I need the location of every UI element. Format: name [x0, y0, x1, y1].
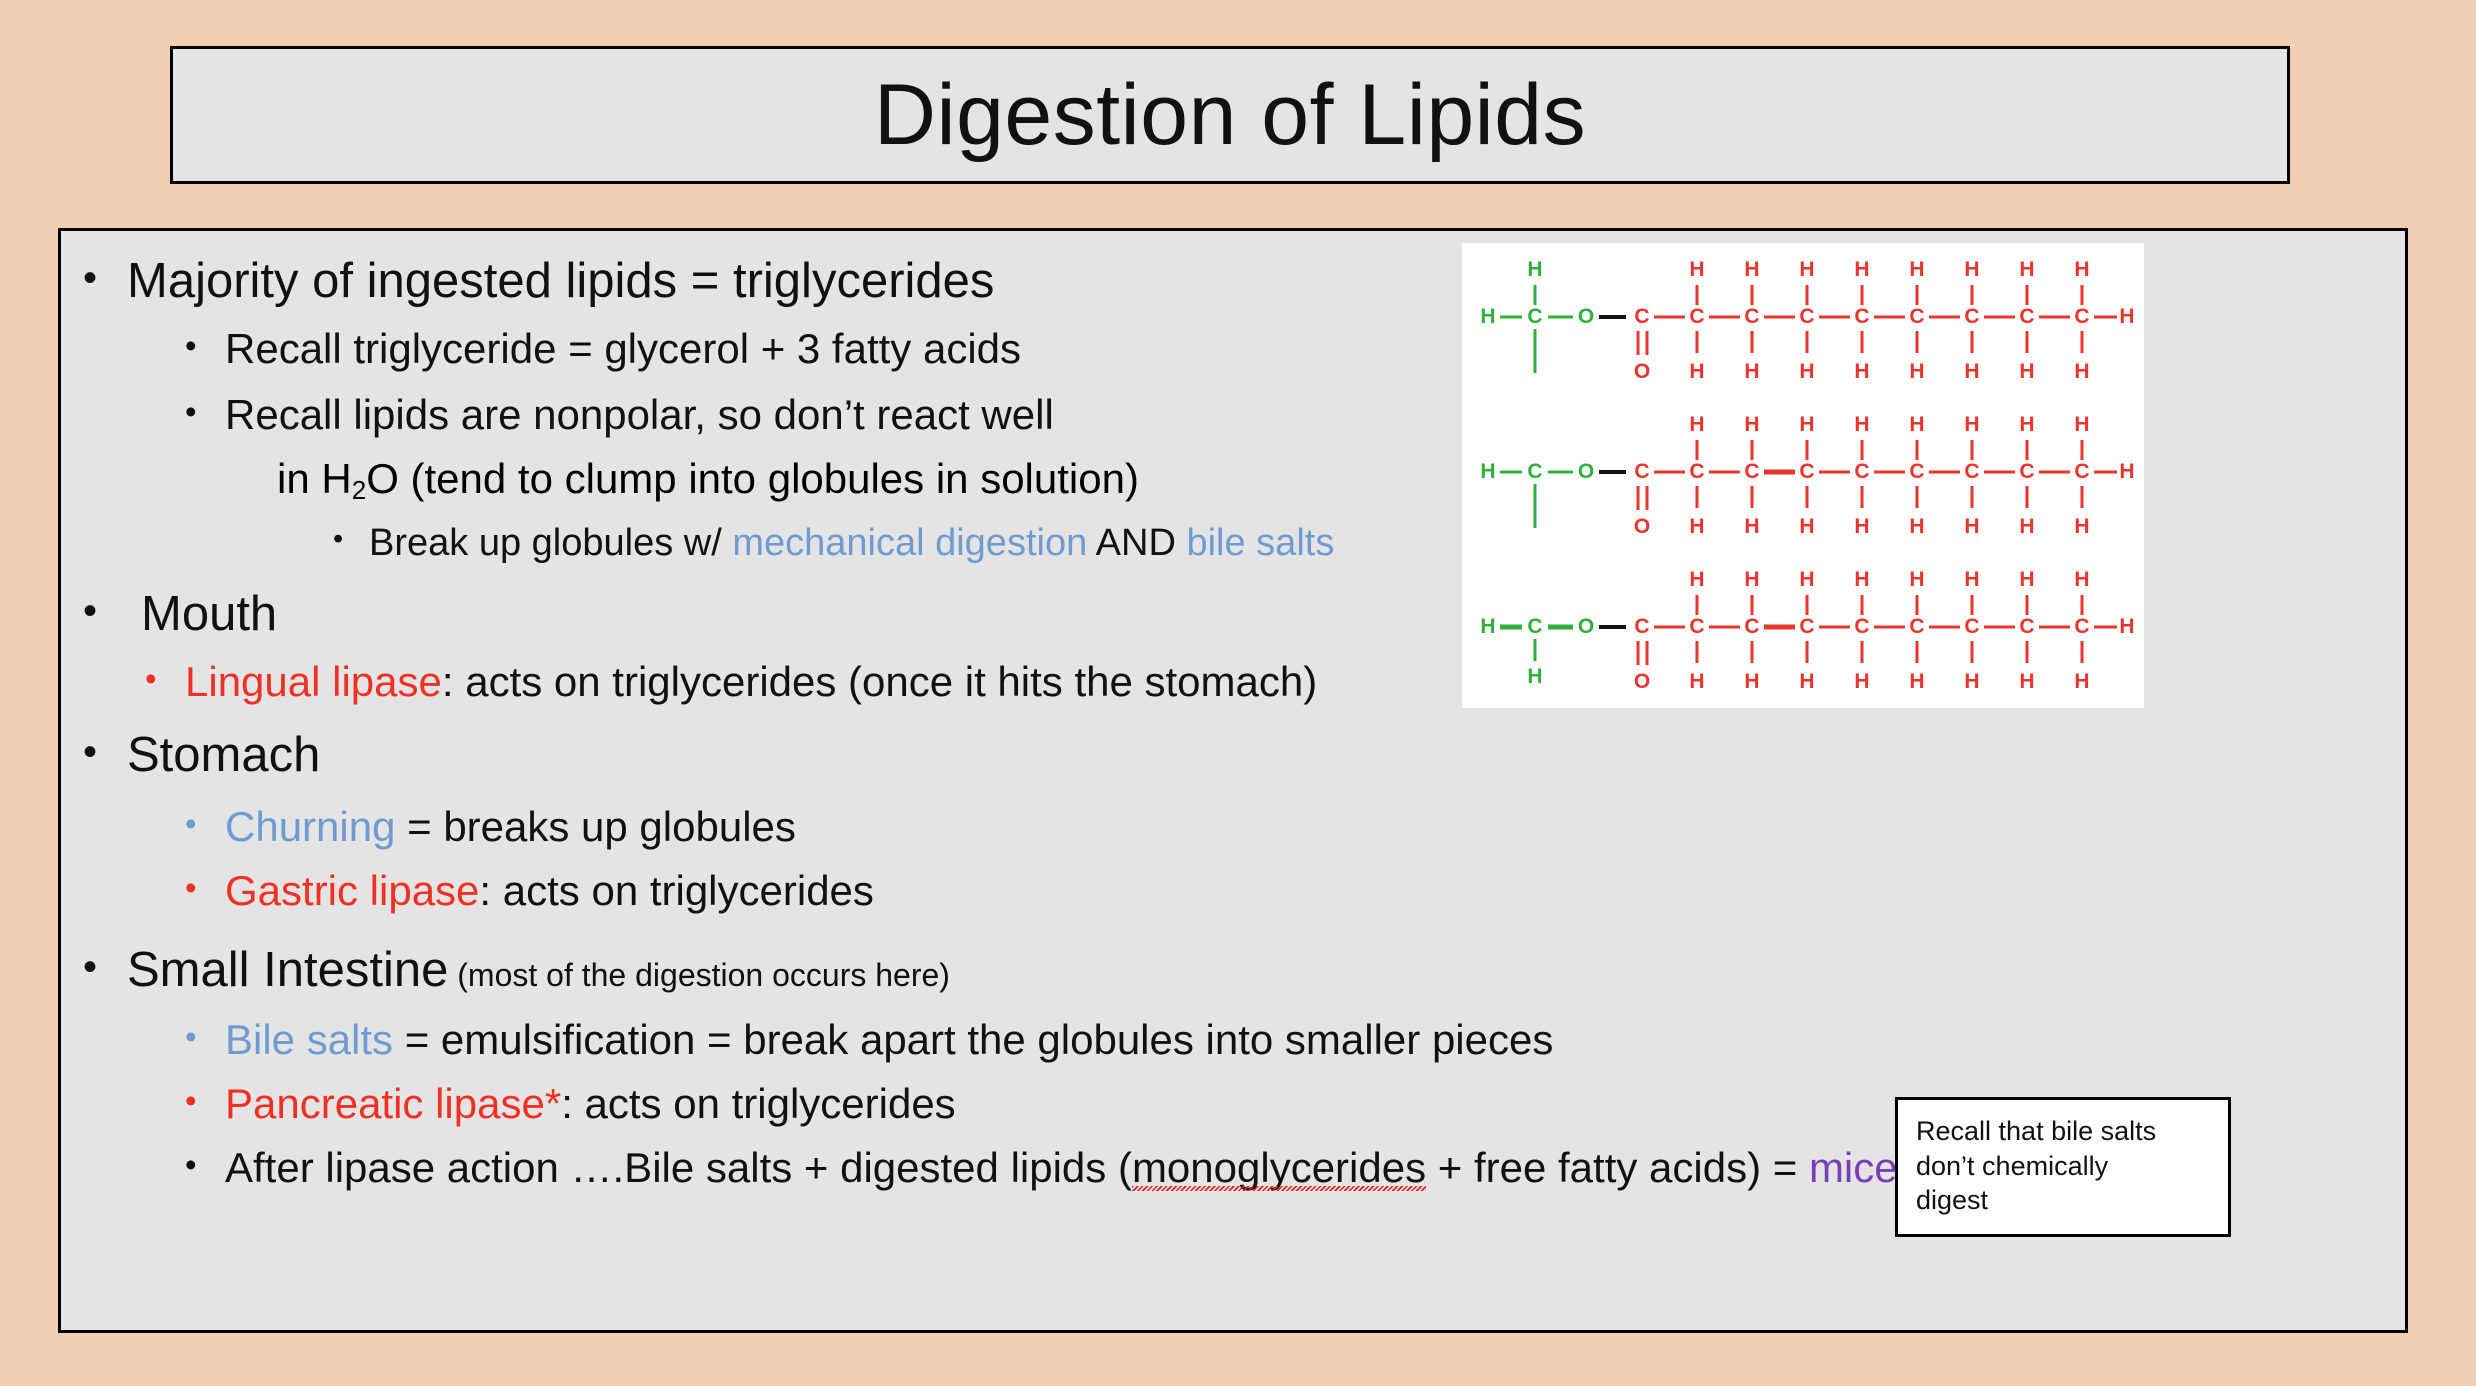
svg-text:H: H — [2019, 360, 2034, 383]
svg-text:H: H — [1799, 413, 1814, 436]
svg-text:H: H — [2074, 413, 2089, 436]
svg-text:C: C — [1634, 460, 1649, 483]
after-lipase-part1: After lipase action ….Bile salts + diges… — [225, 1144, 1132, 1191]
svg-text:H: H — [1964, 413, 1979, 436]
svg-text:H: H — [1689, 670, 1704, 693]
svg-text:C: C — [1744, 460, 1759, 483]
callout-note-line-2: don’t chemically — [1916, 1149, 2212, 1184]
pancreatic-lipase-rest: : acts on triglycerides — [561, 1080, 956, 1127]
svg-text:H: H — [1964, 258, 1979, 281]
bullet-glyph: • — [185, 1083, 225, 1119]
svg-text:H: H — [2119, 305, 2134, 328]
svg-text:H: H — [1909, 568, 1924, 591]
svg-text:H: H — [1964, 515, 1979, 538]
svg-text:H: H — [1527, 258, 1542, 281]
svg-text:H: H — [2019, 670, 2034, 693]
bullet-majority-label: Majority of ingested lipids = triglyceri… — [127, 257, 994, 306]
svg-text:H: H — [1480, 305, 1495, 328]
gastric-lipase-rest: : acts on triglycerides — [479, 867, 874, 914]
svg-text:H: H — [2019, 515, 2034, 538]
svg-text:C: C — [2019, 615, 2034, 638]
bullet-bile-salts: • Bile salts = emulsification = break ap… — [185, 1019, 2387, 1061]
svg-text:C: C — [1909, 460, 1924, 483]
bullet-after-lipase-action-label: After lipase action ….Bile salts + diges… — [225, 1147, 1961, 1189]
svg-text:H: H — [2019, 568, 2034, 591]
svg-text:C: C — [2074, 615, 2089, 638]
bullet-mouth-label: Mouth — [127, 590, 277, 639]
svg-text:O: O — [1578, 615, 1594, 638]
svg-text:C: C — [1744, 615, 1759, 638]
svg-text:H: H — [1799, 360, 1814, 383]
small-intestine-term: Small Intestine — [127, 943, 448, 997]
svg-text:H: H — [1480, 460, 1495, 483]
svg-text:H: H — [1527, 665, 1542, 688]
bullet-glyph: • — [185, 1147, 225, 1183]
svg-text:C: C — [2019, 460, 2034, 483]
misspelled-word-monoglycerides: monoglycerides — [1132, 1147, 1426, 1189]
svg-text:O: O — [1578, 305, 1594, 328]
svg-text:C: C — [1527, 460, 1542, 483]
bullet-churning: • Churning = breaks up globules — [185, 806, 2387, 848]
svg-text:H: H — [1744, 413, 1759, 436]
bullet-glyph: • — [83, 590, 127, 632]
svg-text:H: H — [2074, 360, 2089, 383]
bullet-glyph: • — [83, 257, 127, 299]
svg-text:H: H — [1744, 568, 1759, 591]
bullet-glyph: • — [83, 946, 127, 988]
triglyceride-structure-image: H C O H C C C C C C C C C H — [1462, 243, 2144, 708]
svg-text:C: C — [1744, 305, 1759, 328]
svg-text:H: H — [1689, 258, 1704, 281]
svg-text:C: C — [1799, 305, 1814, 328]
bullet-gastric-lipase: • Gastric lipase: acts on triglycerides — [185, 870, 2387, 912]
svg-text:O: O — [1634, 515, 1650, 538]
bullet-small-intestine-label: Small Intestine (most of the digestion o… — [127, 946, 950, 995]
lingual-lipase-term: Lingual lipase — [185, 658, 442, 705]
bullet-break-up-globules-label: Break up globules w/ mechanical digestio… — [369, 524, 1334, 562]
bile-salts-rest: = emulsification = break apart the globu… — [393, 1016, 1553, 1063]
svg-text:O: O — [1634, 670, 1650, 693]
bullet-glyph: • — [185, 806, 225, 842]
lingual-lipase-rest: : acts on triglycerides (once it hits th… — [442, 658, 1317, 705]
svg-text:H: H — [2119, 460, 2134, 483]
svg-text:C: C — [1964, 460, 1979, 483]
churning-rest: = breaks up globules — [395, 803, 795, 850]
svg-text:H: H — [1909, 258, 1924, 281]
svg-text:C: C — [1634, 615, 1649, 638]
svg-text:H: H — [1799, 515, 1814, 538]
svg-text:H: H — [1854, 413, 1869, 436]
svg-text:H: H — [2074, 568, 2089, 591]
callout-note-line-3: digest — [1916, 1183, 2212, 1218]
svg-text:C: C — [1964, 305, 1979, 328]
bullet-recall-nonpolar-label: Recall lipids are nonpolar, so don’t rea… — [225, 394, 1054, 436]
after-lipase-part2: + free fatty acids) = — [1426, 1144, 1809, 1191]
svg-text:H: H — [1854, 670, 1869, 693]
break-up-and: AND — [1087, 522, 1186, 564]
svg-text:O: O — [1634, 360, 1650, 383]
bullet-churning-label: Churning = breaks up globules — [225, 806, 796, 848]
svg-text:O: O — [1578, 460, 1594, 483]
bullet-glyph: • — [185, 394, 225, 430]
svg-text:H: H — [1799, 258, 1814, 281]
triglyceride-molecule-svg: H C O H C C C C C C C C C H — [1462, 243, 2144, 708]
pancreatic-lipase-term: Pancreatic lipase* — [225, 1080, 561, 1127]
svg-text:C: C — [1527, 615, 1542, 638]
h2o-prefix: in H — [277, 455, 352, 502]
callout-note-box: Recall that bile salts don’t chemically … — [1895, 1097, 2231, 1237]
bullet-recall-triglyceride-label: Recall triglyceride = glycerol + 3 fatty… — [225, 328, 1021, 370]
svg-text:C: C — [1527, 305, 1542, 328]
mechanical-digestion-term: mechanical digestion — [732, 522, 1087, 564]
bullet-pancreatic-lipase-label: Pancreatic lipase*: acts on triglyceride… — [225, 1083, 956, 1125]
svg-text:H: H — [2074, 258, 2089, 281]
svg-text:H: H — [1909, 413, 1924, 436]
svg-text:H: H — [1909, 360, 1924, 383]
svg-text:H: H — [1854, 515, 1869, 538]
svg-text:C: C — [1689, 305, 1704, 328]
bullet-glyph: • — [185, 870, 225, 906]
svg-text:H: H — [1689, 515, 1704, 538]
svg-text:H: H — [1689, 568, 1704, 591]
svg-text:H: H — [1744, 515, 1759, 538]
svg-text:C: C — [1909, 615, 1924, 638]
svg-text:C: C — [1909, 305, 1924, 328]
svg-text:C: C — [2074, 305, 2089, 328]
svg-text:C: C — [1634, 305, 1649, 328]
svg-text:C: C — [1964, 615, 1979, 638]
callout-note-line-1: Recall that bile salts — [1916, 1114, 2212, 1149]
slide: Digestion of Lipids • Majority of ingest… — [0, 0, 2476, 1386]
bile-salts-term-inline: bile salts — [1186, 522, 1334, 564]
svg-text:C: C — [1689, 615, 1704, 638]
bullet-glyph: • — [333, 524, 369, 556]
small-intestine-note: (most of the digestion occurs here) — [448, 957, 950, 993]
bullet-glyph: • — [185, 328, 225, 364]
svg-text:H: H — [1689, 413, 1704, 436]
svg-text:C: C — [1854, 615, 1869, 638]
svg-text:H: H — [1799, 670, 1814, 693]
svg-text:C: C — [2074, 460, 2089, 483]
svg-text:H: H — [1909, 670, 1924, 693]
svg-text:H: H — [1799, 568, 1814, 591]
svg-text:H: H — [1480, 615, 1495, 638]
bullet-stomach-label: Stomach — [127, 731, 320, 780]
svg-text:H: H — [1964, 568, 1979, 591]
svg-text:H: H — [1964, 360, 1979, 383]
svg-text:H: H — [1964, 670, 1979, 693]
gastric-lipase-term: Gastric lipase — [225, 867, 479, 914]
bullet-small-intestine: • Small Intestine (most of the digestion… — [83, 946, 2387, 995]
svg-text:H: H — [2074, 670, 2089, 693]
churning-term: Churning — [225, 803, 395, 850]
svg-text:H: H — [2074, 515, 2089, 538]
svg-text:C: C — [1854, 305, 1869, 328]
svg-text:H: H — [1744, 670, 1759, 693]
bullet-glyph: • — [145, 661, 185, 697]
bullet-bile-salts-label: Bile salts = emulsification = break apar… — [225, 1019, 1553, 1061]
svg-text:H: H — [2119, 615, 2134, 638]
svg-text:H: H — [1689, 360, 1704, 383]
bullet-glyph: • — [83, 731, 127, 773]
svg-text:C: C — [1854, 460, 1869, 483]
h2o-suffix: O (tend to clump into globules in soluti… — [366, 455, 1139, 502]
svg-text:C: C — [1689, 460, 1704, 483]
svg-text:C: C — [1799, 615, 1814, 638]
break-up-prefix: Break up globules w/ — [369, 522, 732, 564]
page-title: Digestion of Lipids — [874, 72, 1586, 158]
bullet-gastric-lipase-label: Gastric lipase: acts on triglycerides — [225, 870, 874, 912]
svg-text:H: H — [1854, 258, 1869, 281]
svg-text:H: H — [1744, 258, 1759, 281]
svg-text:H: H — [1909, 515, 1924, 538]
svg-text:H: H — [1854, 360, 1869, 383]
svg-text:H: H — [2019, 258, 2034, 281]
svg-text:C: C — [2019, 305, 2034, 328]
svg-text:H: H — [1744, 360, 1759, 383]
svg-text:C: C — [1799, 460, 1814, 483]
slide-title-box: Digestion of Lipids — [170, 46, 2290, 184]
bullet-lingual-lipase-label: Lingual lipase: acts on triglycerides (o… — [185, 661, 1317, 703]
svg-text:H: H — [1854, 568, 1869, 591]
bullet-stomach: • Stomach — [83, 731, 2387, 780]
h2o-subscript: 2 — [352, 475, 366, 505]
svg-text:H: H — [2019, 413, 2034, 436]
bullet-glyph: • — [185, 1019, 225, 1055]
bile-salts-term: Bile salts — [225, 1016, 393, 1063]
